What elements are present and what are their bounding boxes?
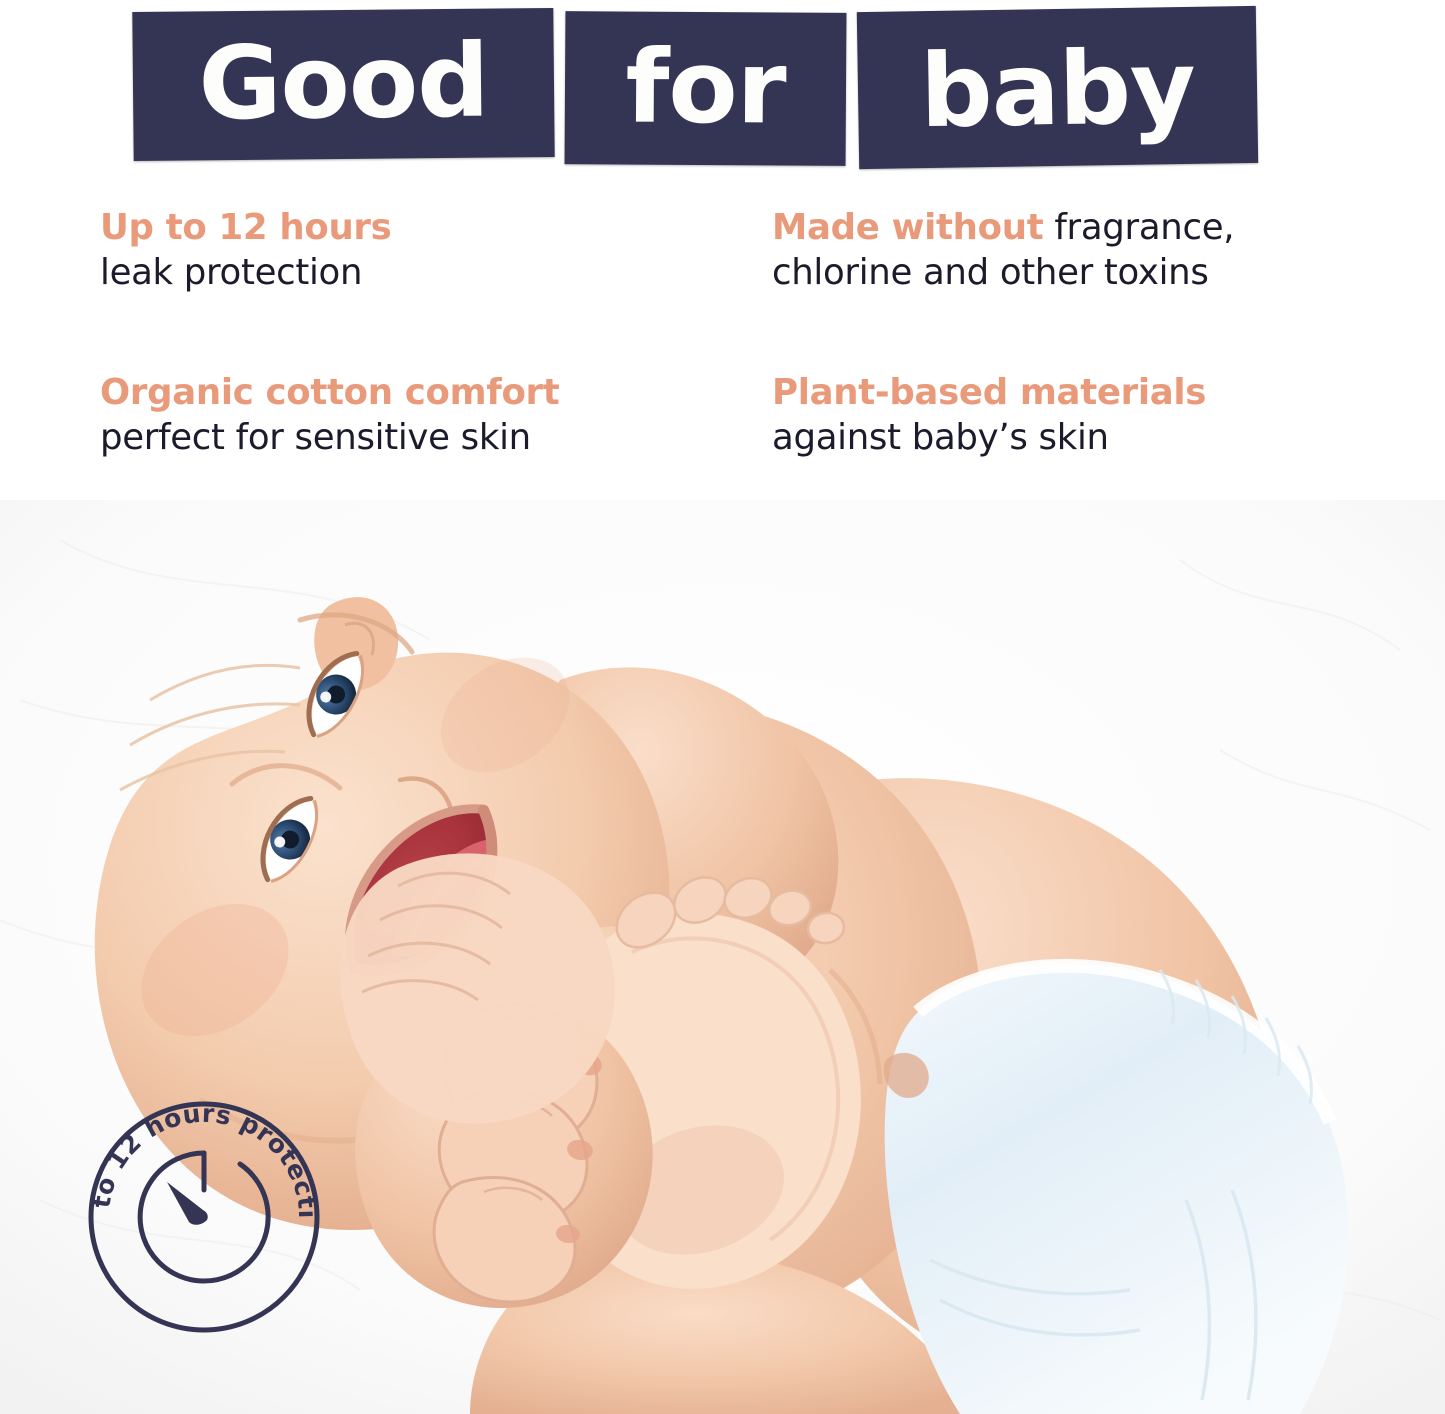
clock-timer-icon bbox=[140, 1153, 268, 1281]
feature-headline: Organic cotton comfort bbox=[100, 370, 660, 415]
feature-item-organic-cotton: Organic cotton comfort perfect for sensi… bbox=[100, 370, 660, 461]
feature-headline: Plant-based materials bbox=[772, 370, 1332, 415]
headline-box-good: Good bbox=[132, 8, 554, 161]
headline-box-baby: baby bbox=[857, 6, 1258, 169]
feature-rest-text: fragrance, bbox=[1043, 207, 1234, 248]
feature-sub-text: chlorine and other toxins bbox=[772, 250, 1332, 295]
badge-seal: up to 12 hours protection bbox=[85, 1098, 323, 1336]
headline-word-baby: baby bbox=[919, 37, 1195, 142]
headline-word-good: Good bbox=[198, 31, 489, 135]
feature-item-leak-protection: Up to 12 hours leak protection bbox=[100, 205, 660, 296]
feature-sub-text: leak protection bbox=[100, 250, 660, 295]
feature-lead-text: Organic cotton comfort bbox=[100, 372, 559, 413]
headline: Good for baby bbox=[0, 0, 1445, 185]
product-feature-image: Good for baby Up to 12 hours leak protec… bbox=[0, 0, 1445, 1414]
feature-lead-text: Made without bbox=[772, 207, 1043, 248]
feature-list: Up to 12 hours leak protection Made with… bbox=[0, 205, 1445, 495]
protection-badge: up to 12 hours protection bbox=[85, 1098, 323, 1336]
feature-sub-text: perfect for sensitive skin bbox=[100, 415, 660, 460]
headline-word-for: for bbox=[625, 37, 786, 139]
headline-box-for: for bbox=[565, 11, 847, 166]
feature-lead-text: Plant-based materials bbox=[772, 372, 1206, 413]
feature-item-plant-based: Plant-based materials against baby’s ski… bbox=[772, 370, 1332, 461]
feature-headline: Made without fragrance, bbox=[772, 205, 1332, 250]
feature-lead-text: Up to 12 hours bbox=[100, 207, 391, 248]
feature-item-made-without: Made without fragrance, chlorine and oth… bbox=[772, 205, 1332, 296]
feature-sub-text: against baby’s skin bbox=[772, 415, 1332, 460]
feature-headline: Up to 12 hours bbox=[100, 205, 660, 250]
